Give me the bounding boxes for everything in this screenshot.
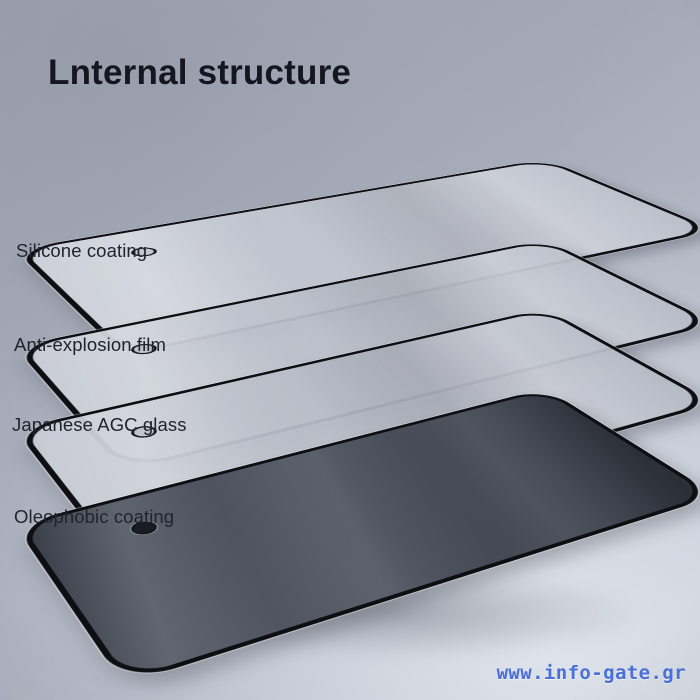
- layer-label-japanese-agc-glass: Japanese AGC glass: [12, 414, 187, 436]
- page-title: Lnternal structure: [48, 53, 351, 93]
- layer-label-oleophobic-coating: Oleophobic coating: [14, 506, 174, 528]
- site-watermark: www.info-gate.gr: [497, 662, 686, 684]
- infographic-canvas: Lnternal structure Silicone coating Anti…: [0, 0, 700, 700]
- layer-label-anti-explosion-film: Anti-explosion film: [14, 334, 166, 356]
- layer-label-silicone-coating: Silicone coating: [16, 240, 147, 262]
